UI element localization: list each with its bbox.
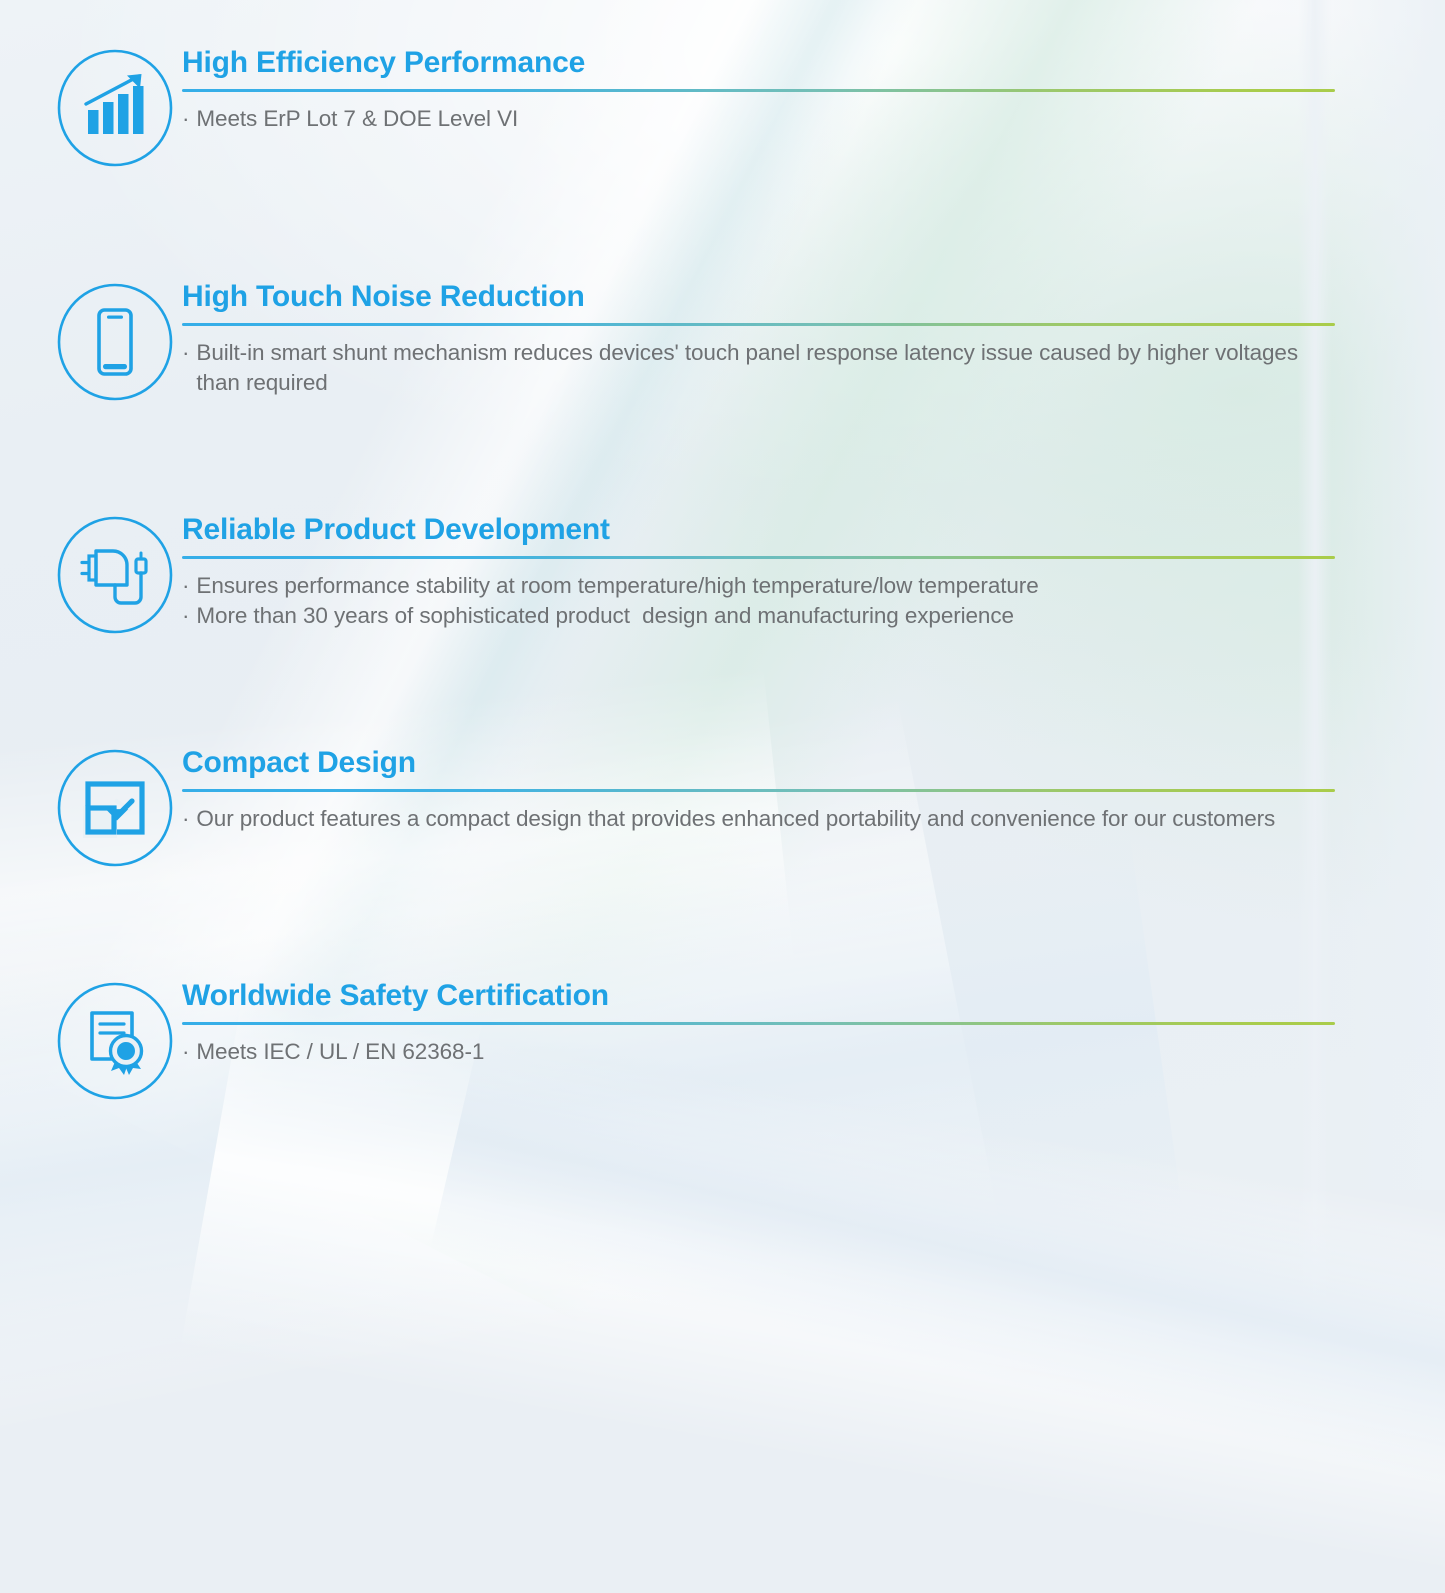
feature-body: High Touch Noise Reduction · Built-in sm…	[177, 280, 1346, 398]
feature-item-compact-design: Compact Design · Our product features a …	[53, 746, 1335, 868]
feature-item-reliable-product-development: Reliable Product Development · Ensures p…	[53, 513, 1335, 635]
bullet-item: · Meets ErP Lot 7 & DOE Level VI	[182, 104, 1335, 134]
bullet-text: Meets ErP Lot 7 & DOE Level VI	[196, 104, 518, 134]
feature-body: Compact Design · Our product features a …	[177, 746, 1335, 834]
feature-title: Worldwide Safety Certification	[182, 979, 1335, 1013]
certificate-award-icon	[55, 981, 175, 1101]
bullet-text: Ensures performance stability at room te…	[196, 571, 1038, 601]
feature-item-worldwide-safety-certification: Worldwide Safety Certification · Meets I…	[53, 979, 1335, 1101]
feature-title: High Touch Noise Reduction	[182, 280, 1346, 314]
feature-bullets: · Ensures performance stability at room …	[182, 571, 1335, 631]
bullet-text: Our product features a compact design th…	[196, 804, 1275, 834]
feature-body: Worldwide Safety Certification · Meets I…	[177, 979, 1335, 1067]
bullet-marker: ·	[182, 338, 196, 398]
feature-divider	[182, 323, 1335, 326]
feature-bullets: · Our product features a compact design …	[182, 804, 1335, 834]
bullet-marker: ·	[182, 804, 196, 834]
feature-bullets: · Built-in smart shunt mechanism reduces…	[182, 338, 1346, 398]
feature-body: Reliable Product Development · Ensures p…	[177, 513, 1335, 631]
feature-divider	[182, 556, 1335, 559]
feature-icon-container	[53, 513, 177, 635]
bullet-item: · Our product features a compact design …	[182, 804, 1335, 834]
bullet-text: Meets IEC / UL / EN 62368-1	[196, 1037, 484, 1067]
feature-divider	[182, 1022, 1335, 1025]
feature-list: High Efficiency Performance · Meets ErP …	[0, 0, 1445, 1190]
feature-icon-container	[53, 979, 177, 1101]
feature-bullets: · Meets ErP Lot 7 & DOE Level VI	[182, 104, 1335, 134]
feature-item-high-efficiency-performance: High Efficiency Performance · Meets ErP …	[53, 46, 1335, 168]
feature-body: High Efficiency Performance · Meets ErP …	[177, 46, 1335, 134]
feature-icon-container	[53, 746, 177, 868]
bullet-item: · Meets IEC / UL / EN 62368-1	[182, 1037, 1335, 1067]
power-adapter-icon	[55, 515, 175, 635]
bullet-text: Built-in smart shunt mechanism reduces d…	[196, 338, 1346, 398]
compact-resize-icon	[55, 748, 175, 868]
bullet-item: · More than 30 years of sophisticated pr…	[182, 601, 1335, 631]
feature-title: Compact Design	[182, 746, 1335, 780]
bar-chart-growth-icon	[55, 48, 175, 168]
bullet-item: · Built-in smart shunt mechanism reduces…	[182, 338, 1346, 398]
feature-divider	[182, 89, 1335, 92]
smartphone-icon	[55, 282, 175, 402]
bullet-text: More than 30 years of sophisticated prod…	[196, 601, 1014, 631]
feature-divider	[182, 789, 1335, 792]
bullet-marker: ·	[182, 1037, 196, 1067]
feature-bullets: · Meets IEC / UL / EN 62368-1	[182, 1037, 1335, 1067]
feature-title: High Efficiency Performance	[182, 46, 1335, 80]
feature-icon-container	[53, 46, 177, 168]
bullet-marker: ·	[182, 104, 196, 134]
feature-title: Reliable Product Development	[182, 513, 1335, 547]
feature-icon-container	[53, 280, 177, 402]
bullet-marker: ·	[182, 571, 196, 601]
bullet-item: · Ensures performance stability at room …	[182, 571, 1335, 601]
bullet-marker: ·	[182, 601, 196, 631]
feature-item-high-touch-noise-reduction: High Touch Noise Reduction · Built-in sm…	[53, 280, 1346, 402]
